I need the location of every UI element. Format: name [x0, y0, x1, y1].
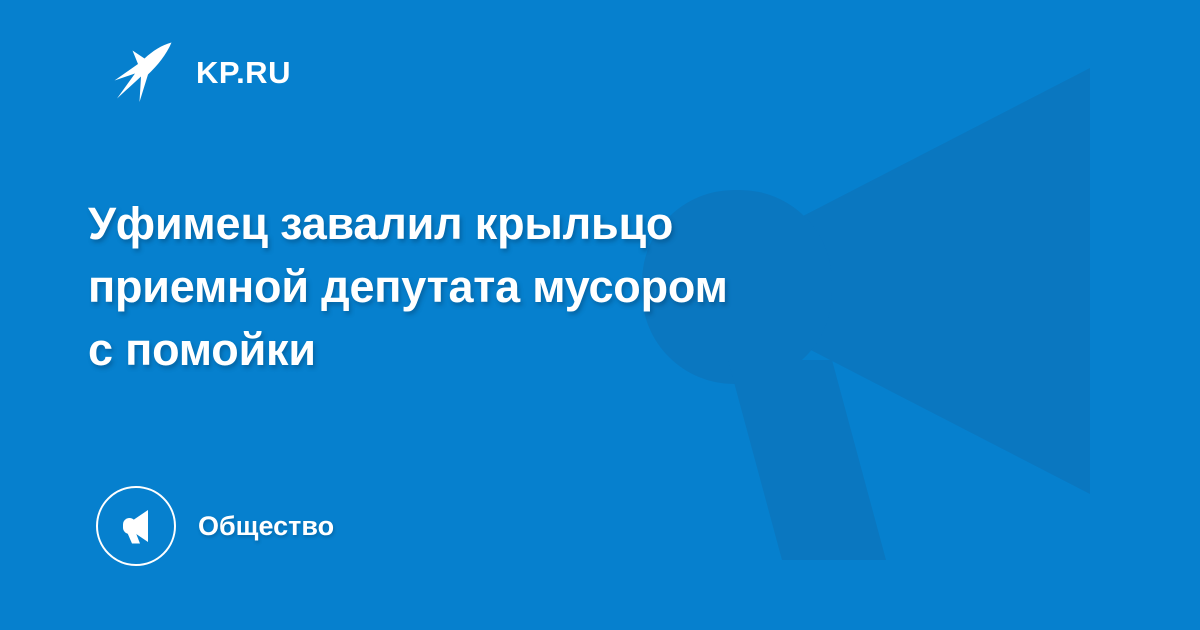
page-title: Уфимец завалил крыльцо приемной депутата…	[88, 192, 968, 381]
brand-logo[interactable]: KP.RU	[108, 36, 291, 108]
megaphone-icon	[115, 505, 157, 547]
headline-line-3: с помойки	[88, 318, 968, 381]
headline-line-1: Уфимец завалил крыльцо	[88, 192, 968, 255]
category-badge[interactable]: Общество	[96, 486, 334, 566]
category-label: Общество	[198, 513, 334, 540]
brand-name: KP.RU	[196, 57, 291, 88]
category-icon-circle	[96, 486, 176, 566]
headline-line-2: приемной депутата мусором	[88, 255, 968, 318]
social-share-card: KP.RU Уфимец завалил крыльцо приемной де…	[0, 0, 1200, 630]
swallow-bird-icon	[108, 36, 180, 108]
